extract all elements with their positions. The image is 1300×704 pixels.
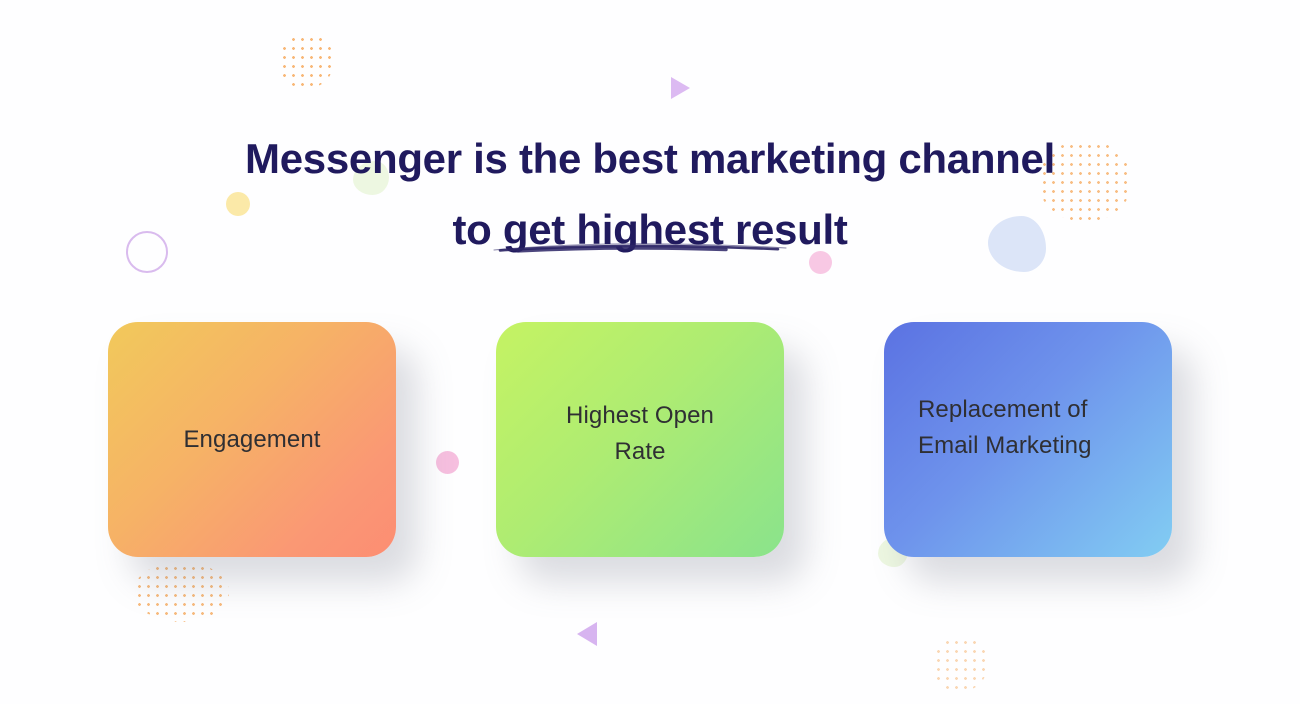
dot-pattern-circle-bottom-right [932, 636, 988, 692]
benefit-card-replacement-email-marketing-label-line-1: Replacement of [918, 396, 1088, 423]
dot-pattern-circle-top-left [278, 33, 334, 89]
benefit-card-replacement-email-marketing-label: Replacement of Email Marketing [884, 392, 1172, 464]
dot-pattern-circle-bottom-left [133, 562, 229, 622]
benefit-card-highest-open-rate-label-line-2: Rate [614, 438, 665, 465]
benefit-card-replacement-email-marketing-label-line-2: Email Marketing [918, 432, 1092, 459]
benefit-card-highest-open-rate-label: Highest Open Rate [496, 398, 784, 470]
purple-triangle-right-icon [671, 77, 690, 99]
benefit-card-replacement-email-marketing[interactable]: Replacement of Email Marketing [884, 322, 1172, 557]
title-underline [490, 234, 790, 258]
benefit-card-list: Engagement Highest Open Rate Replacement… [0, 322, 1300, 562]
benefit-card-highest-open-rate-label-line-1: Highest Open [566, 402, 714, 429]
slide-canvas: Messenger is the best marketing channel … [0, 0, 1300, 704]
benefit-card-engagement[interactable]: Engagement [108, 322, 396, 557]
benefit-card-highest-open-rate[interactable]: Highest Open Rate [496, 322, 784, 557]
purple-triangle-left-icon [577, 622, 597, 646]
benefit-card-engagement-label: Engagement [108, 422, 396, 458]
page-title-line-1: Messenger is the best marketing channel [0, 124, 1300, 195]
